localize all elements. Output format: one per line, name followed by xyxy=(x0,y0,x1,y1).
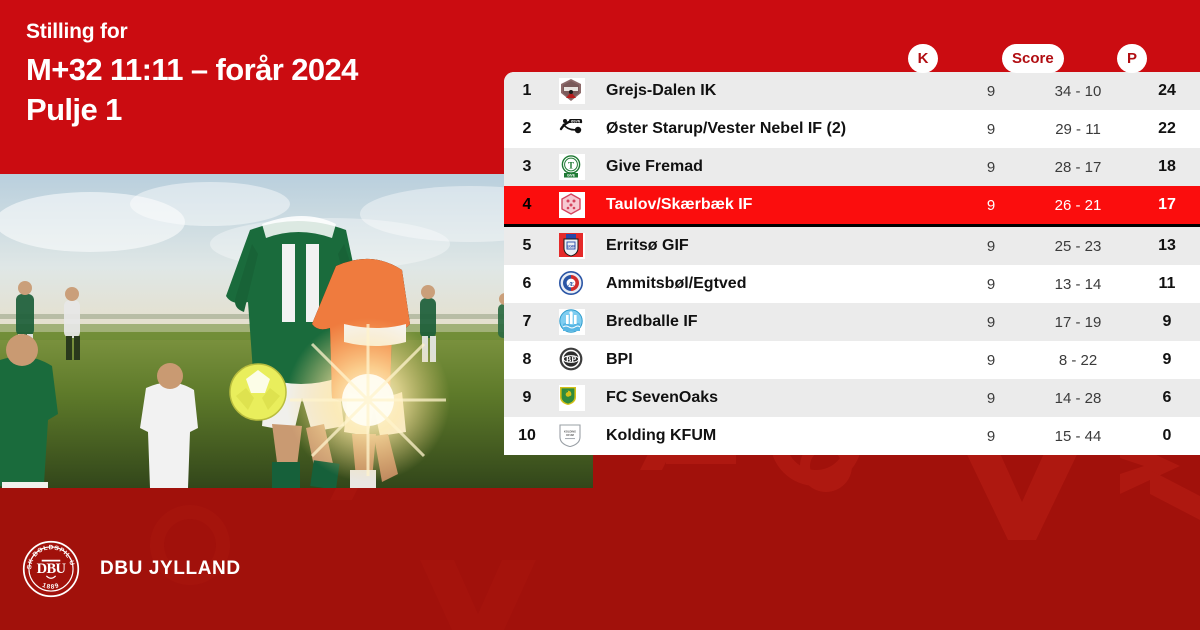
svg-text:T: T xyxy=(568,160,574,170)
row-score: 34 - 10 xyxy=(1022,83,1134,100)
row-score: 29 - 11 xyxy=(1022,121,1134,138)
svg-text:KFUM: KFUM xyxy=(566,433,574,437)
row-matches: 9 xyxy=(960,197,1022,214)
table-row[interactable]: 2 ØSVN Øster Starup/Vester Nebel IF (2) … xyxy=(504,110,1200,148)
taulov-skaerbaek-if-logo xyxy=(550,192,594,218)
svg-text:Æ: Æ xyxy=(568,281,575,288)
table-row[interactable]: 1 Grejs-Dalen IK 9 34 - 10 24 xyxy=(504,72,1200,110)
row-rank: 2 xyxy=(504,120,550,138)
row-rank: 7 xyxy=(504,313,550,331)
row-rank: 6 xyxy=(504,275,550,293)
header-kicker: Stilling for xyxy=(26,18,358,46)
row-points: 9 xyxy=(1134,313,1200,331)
svg-text:EGIF: EGIF xyxy=(566,244,576,249)
row-rank: 1 xyxy=(504,82,550,100)
row-points: 17 xyxy=(1134,196,1200,214)
row-matches: 9 xyxy=(960,314,1022,331)
row-matches: 9 xyxy=(960,352,1022,369)
row-rank: 3 xyxy=(504,158,550,176)
svg-text:BP: BP xyxy=(566,355,576,364)
table-row[interactable]: 5 EGIF Erritsø GIF 9 25 - 23 13 xyxy=(504,227,1200,265)
row-team-name: BPI xyxy=(594,351,960,369)
dbu-crest-icon: DANSK BOLDSPIL UNION 1889 DBU xyxy=(22,540,80,598)
row-rank: 10 xyxy=(504,427,550,445)
svg-text:1889: 1889 xyxy=(41,582,61,591)
row-matches: 9 xyxy=(960,428,1022,445)
row-rank: 4 xyxy=(504,196,550,214)
row-team-name: Kolding KFUM xyxy=(594,427,960,445)
row-team-name: FC SevenOaks xyxy=(594,389,960,407)
table-row[interactable]: 4 Taulov/Skærbæk IF 9 26 - 21 17 xyxy=(504,186,1200,227)
grejs-dalen-ik-logo xyxy=(550,78,594,104)
kolding-kfum-logo: KOLDINGKFUM xyxy=(550,423,594,449)
row-score: 25 - 23 xyxy=(1022,238,1134,255)
row-score: 8 - 22 xyxy=(1022,352,1134,369)
footer: DANSK BOLDSPIL UNION 1889 DBU DBU JYLLAN… xyxy=(0,488,1200,630)
row-points: 11 xyxy=(1134,275,1200,293)
svg-text:DBU: DBU xyxy=(37,561,67,577)
oster-starup-vester-nebel-if-logo: ØSVN xyxy=(550,116,594,142)
bredballe-if-logo xyxy=(550,309,594,335)
svg-text:ØSVN: ØSVN xyxy=(571,120,581,124)
row-team-name: Give Fremad xyxy=(594,158,960,176)
row-team-name: Taulov/Skærbæk IF xyxy=(594,196,960,214)
brand-name: DBU JYLLAND xyxy=(100,558,241,580)
row-team-name: Ammitsbøl/Egtved xyxy=(594,275,960,293)
row-matches: 9 xyxy=(960,276,1022,293)
give-fremad-logo: TGIVE xyxy=(550,154,594,180)
row-matches: 9 xyxy=(960,238,1022,255)
row-score: 28 - 17 xyxy=(1022,159,1134,176)
svg-text:GIVE: GIVE xyxy=(567,174,576,178)
row-team-name: Grejs-Dalen IK xyxy=(594,82,960,100)
table-row[interactable]: 6 Æ Ammitsbøl/Egtved 9 13 - 14 11 xyxy=(504,265,1200,303)
row-matches: 9 xyxy=(960,121,1022,138)
row-points: 6 xyxy=(1134,389,1200,407)
row-points: 22 xyxy=(1134,120,1200,138)
row-rank: 9 xyxy=(504,389,550,407)
row-points: 18 xyxy=(1134,158,1200,176)
row-points: 9 xyxy=(1134,351,1200,369)
bpi-logo: BP xyxy=(550,347,594,373)
table-row[interactable]: 10 KOLDINGKFUM Kolding KFUM 9 15 - 44 0 xyxy=(504,417,1200,455)
row-score: 13 - 14 xyxy=(1022,276,1134,293)
svg-text:KOLDING: KOLDING xyxy=(564,430,576,434)
row-score: 17 - 19 xyxy=(1022,314,1134,331)
erritso-gif-logo: EGIF xyxy=(550,233,594,259)
row-matches: 9 xyxy=(960,390,1022,407)
brand-lockup: DANSK BOLDSPIL UNION 1889 DBU DBU JYLLAN… xyxy=(22,540,241,598)
row-team-name: Bredballe IF xyxy=(594,313,960,331)
page-header: Stilling for M+32 11:11 – forår 2024 Pul… xyxy=(26,18,358,130)
table-row[interactable]: 8 BP BPI 9 8 - 22 9 xyxy=(504,341,1200,379)
row-points: 0 xyxy=(1134,427,1200,445)
row-score: 14 - 28 xyxy=(1022,390,1134,407)
row-matches: 9 xyxy=(960,83,1022,100)
row-team-name: Erritsø GIF xyxy=(594,237,960,255)
row-team-name: Øster Starup/Vester Nebel IF (2) xyxy=(594,120,960,138)
row-score: 26 - 21 xyxy=(1022,197,1134,214)
row-points: 13 xyxy=(1134,237,1200,255)
row-matches: 9 xyxy=(960,159,1022,176)
table-row[interactable]: 9 FC SevenOaks 9 14 - 28 6 xyxy=(504,379,1200,417)
ammitsbol-egtved-logo: Æ xyxy=(550,271,594,297)
row-score: 15 - 44 xyxy=(1022,428,1134,445)
table-row[interactable]: 3 TGIVE Give Fremad 9 28 - 17 18 xyxy=(504,148,1200,186)
table-row[interactable]: 7 Bredballe IF 9 17 - 19 9 xyxy=(504,303,1200,341)
page-title: M+32 11:11 – forår 2024 Pulje 1 xyxy=(26,50,358,130)
fc-sevenoaks-logo xyxy=(550,385,594,411)
row-points: 24 xyxy=(1134,82,1200,100)
standings-table: 1 Grejs-Dalen IK 9 34 - 10 242 ØSVN Øste… xyxy=(504,72,1200,455)
row-rank: 5 xyxy=(504,237,550,255)
row-rank: 8 xyxy=(504,351,550,369)
